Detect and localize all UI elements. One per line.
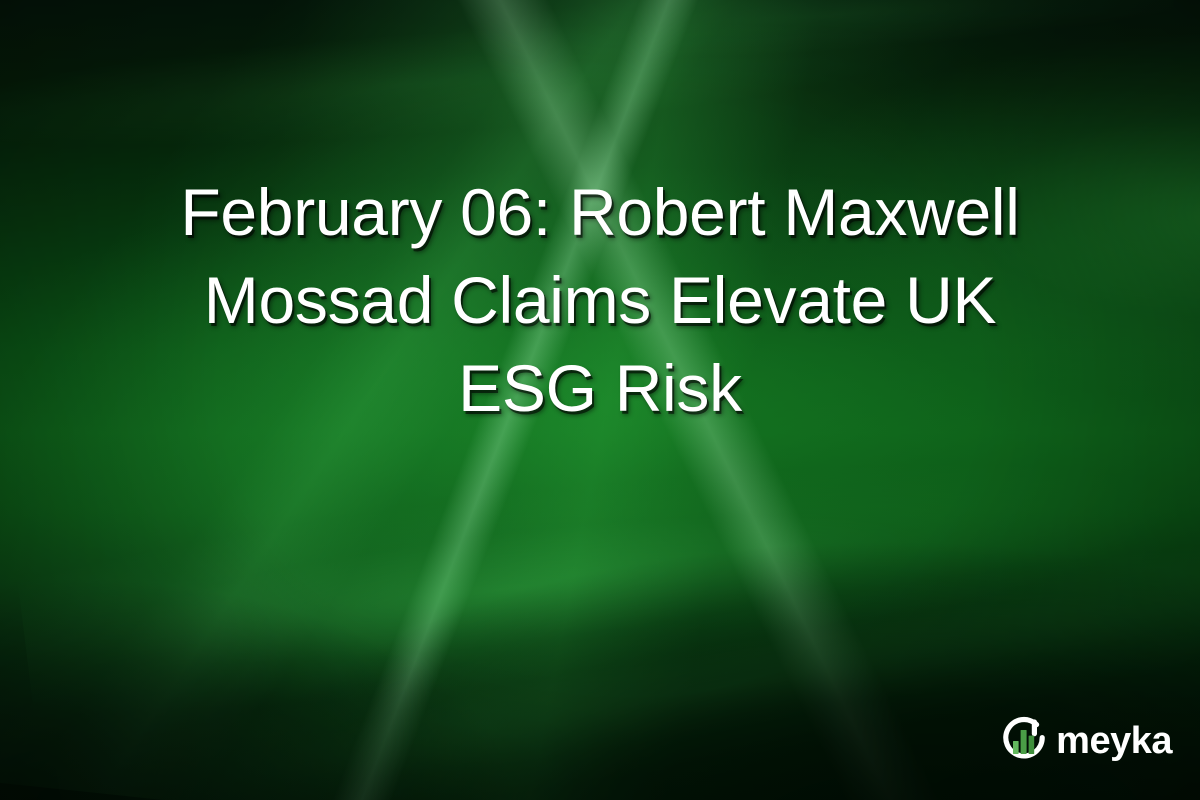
- headline-block: February 06: Robert Maxwell Mossad Claim…: [0, 168, 1200, 432]
- circular-bar-chart-icon: [998, 714, 1050, 766]
- logo-bar-left: [1013, 741, 1019, 754]
- logo-bar-middle: [1021, 730, 1027, 754]
- headline-line-3: ESG Risk: [458, 344, 742, 432]
- news-banner-card: February 06: Robert Maxwell Mossad Claim…: [0, 0, 1200, 800]
- brand-wordmark: meyka: [1056, 722, 1172, 760]
- headline-line-2: Mossad Claims Elevate UK: [204, 256, 996, 344]
- meyka-logo[interactable]: meyka: [998, 714, 1172, 766]
- logo-bar-right: [1029, 736, 1035, 754]
- headline-line-1: February 06: Robert Maxwell: [180, 168, 1019, 256]
